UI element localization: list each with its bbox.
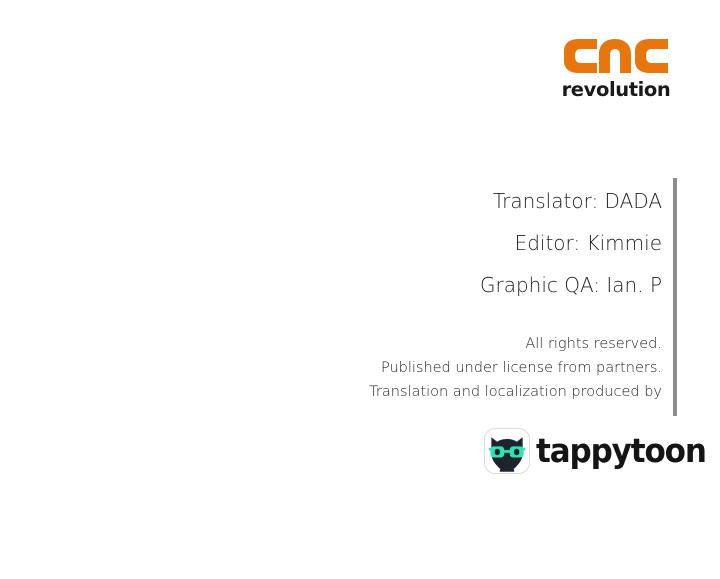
credits-block: Translator: DADA Editor: Kimmie Graphic … [300,180,662,306]
fineprint-producer: Translation and localization produced by [220,380,662,404]
credits-page: revolution Translator: DADA Editor: Kimm… [0,0,720,579]
credit-graphic-qa: Graphic QA: Ian. P [300,264,662,306]
cnc-revolution-logo: revolution [560,36,680,108]
tappytoon-logo: tappytoon [484,428,676,476]
vertical-divider [673,178,677,416]
credit-translator: Translator: DADA [300,180,662,222]
tappytoon-cat-logo-icon [484,428,530,474]
credit-editor: Editor: Kimmie [300,222,662,264]
tappytoon-wordmark: tappytoon [536,431,706,471]
fineprint-block: All rights reserved. Published under lic… [220,332,662,404]
fineprint-rights: All rights reserved. [220,332,662,356]
cnc-wordmark-icon [560,36,672,76]
brand-subtitle: revolution [560,80,672,100]
fineprint-license: Published under license from partners. [220,356,662,380]
